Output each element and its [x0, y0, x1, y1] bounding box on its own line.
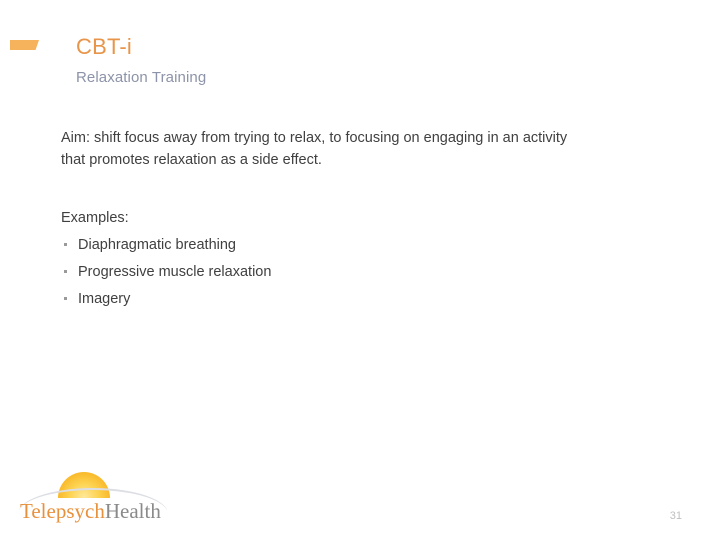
telepsychhealth-logo: TelepsychHealth — [18, 470, 168, 528]
slide-canvas: CBT-i Relaxation Training Aim: shift foc… — [0, 0, 720, 540]
bullet-square-icon — [64, 243, 67, 246]
list-item: Diaphragmatic breathing — [61, 234, 591, 256]
logo-wordmark: TelepsychHealth — [20, 498, 161, 524]
slide-header: CBT-i Relaxation Training — [76, 34, 596, 88]
list-item-label: Diaphragmatic breathing — [78, 237, 236, 253]
examples-heading: Examples: — [61, 171, 591, 229]
aim-paragraph: Aim: shift focus away from trying to rel… — [61, 127, 591, 171]
page-number: 31 — [670, 510, 682, 522]
list-item: Progressive muscle relaxation — [61, 261, 591, 283]
logo-brand-first: Telepsych — [20, 499, 105, 523]
bullet-square-icon — [64, 297, 67, 300]
examples-bullet-list: Diaphragmatic breathing Progressive musc… — [61, 234, 591, 310]
bullet-square-icon — [64, 270, 67, 273]
orange-accent-bar — [10, 40, 39, 50]
page-title: CBT-i — [76, 34, 596, 60]
list-item-label: Progressive muscle relaxation — [78, 264, 271, 280]
list-item-label: Imagery — [78, 291, 130, 307]
list-item: Imagery — [61, 288, 591, 310]
page-subtitle: Relaxation Training — [76, 68, 596, 88]
slide-body: Aim: shift focus away from trying to rel… — [61, 127, 591, 310]
logo-brand-second: Health — [105, 499, 161, 523]
